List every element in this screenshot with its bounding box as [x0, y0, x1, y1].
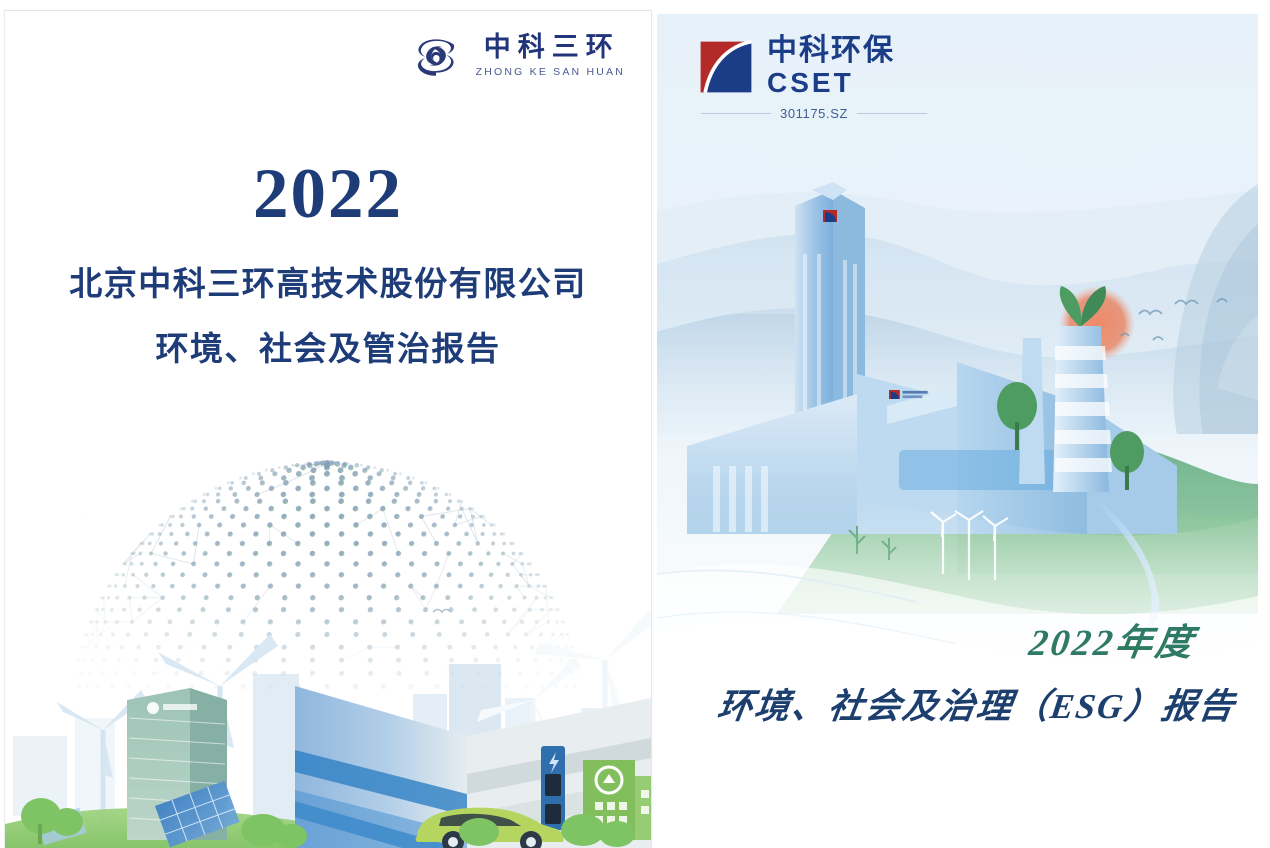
right-cover-titles: 2022年度 环境、社会及治理（ESG）报告 — [718, 612, 1236, 729]
report-title: 环境、社会及治理（ESG）报告 — [714, 678, 1239, 729]
cset-swoosh-icon — [697, 38, 755, 96]
report-year: 2022年度 — [1026, 612, 1200, 666]
cover-title-line1: 北京中科三环高技术股份有限公司 — [5, 257, 651, 305]
page-spread: 中科三环 ZHONG KE SAN HUAN 2022 北京中科三环高技术股份有… — [0, 0, 1270, 847]
zhongke-sanhuan-logo: 中科三环 ZHONG KE SAN HUAN — [410, 33, 625, 79]
divider-right — [857, 113, 927, 114]
logo-pinyin: ZHONG KE SAN HUAN — [476, 67, 625, 78]
stock-code-row: 301175.SZ — [697, 106, 927, 121]
logo-chinese-name: 中科三环 — [484, 34, 620, 61]
stock-code: 301175.SZ — [780, 106, 848, 121]
divider-left — [701, 113, 771, 114]
cset-english-name: CSET — [767, 69, 895, 97]
cset-chinese-name: 中科环保 — [767, 36, 895, 66]
left-cover-page: 中科三环 ZHONG KE SAN HUAN 2022 北京中科三环高技术股份有… — [4, 10, 652, 848]
right-cover-page: 中科环保 CSET 301175.SZ 2022年度 环境、社会及治理（ESG）… — [657, 14, 1258, 847]
cover-year: 2022 — [5, 154, 651, 235]
zhongke-sanhuan-rings-icon — [410, 33, 462, 79]
green-city-illustration — [5, 578, 651, 848]
cover-title-line2: 环境、社会及管治报告 — [5, 322, 651, 370]
cset-logo: 中科环保 CSET 301175.SZ — [697, 36, 927, 121]
